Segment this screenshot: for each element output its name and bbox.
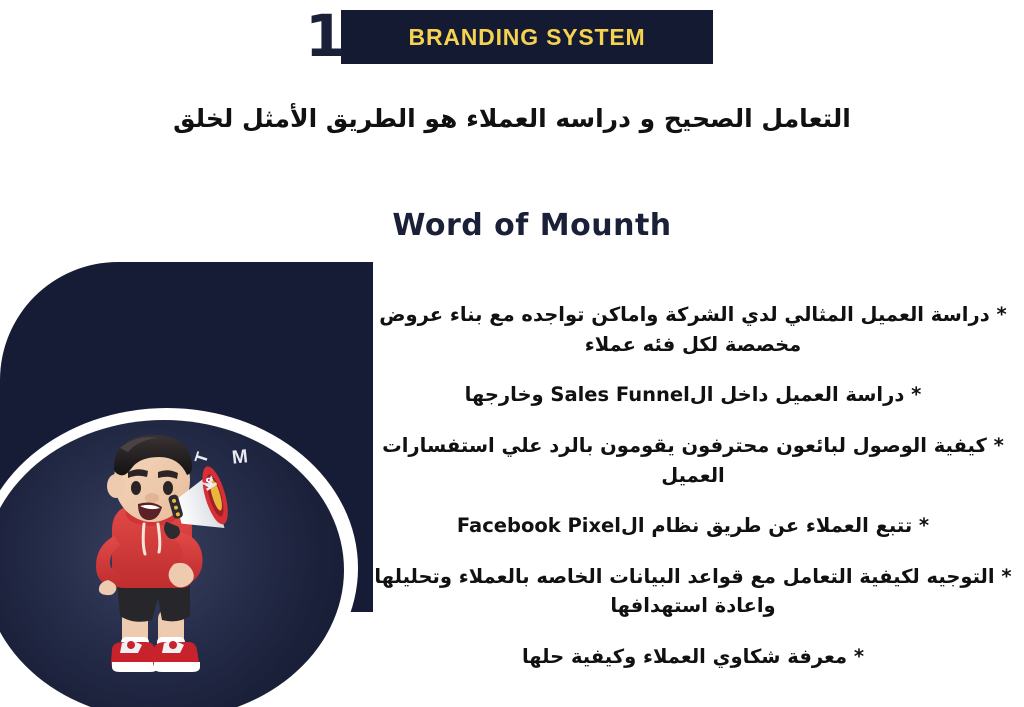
section-number: 1 (305, 8, 343, 62)
list-item: * تتبع العملاء عن طريق نظام الFacebook P… (370, 511, 1016, 541)
slide-canvas: BRANDING SYSTEM 1 التعامل الصحيح و دراسه… (0, 0, 1024, 707)
bullet-list: * دراسة العميل المثالي لدي الشركة واماكن… (370, 300, 1016, 672)
subtitle: Word of Mounth (0, 208, 1024, 243)
character-illustration: S (60, 432, 270, 694)
list-item: * التوجيه لكيفية التعامل مع قواعد البيان… (370, 562, 1016, 621)
shoes (111, 641, 200, 672)
page-title: التعامل الصحيح و دراسه العملاء هو الطريق… (166, 104, 858, 133)
badge-bar: BRANDING SYSTEM (341, 10, 713, 64)
list-item: * كيفية الوصول لبائعون محترفون يقومون با… (370, 431, 1016, 490)
header-badge: BRANDING SYSTEM 1 (305, 8, 339, 64)
badge-label: BRANDING SYSTEM (409, 24, 646, 51)
list-item: * دراسة العميل داخل الSales Funnel وخارج… (370, 380, 1016, 410)
subtitle-text: Word of Mounth (352, 208, 671, 243)
list-item: * معرفة شكاوي العملاء وكيفية حلها (370, 642, 1016, 672)
list-item: * دراسة العميل المثالي لدي الشركة واماكن… (370, 300, 1016, 359)
